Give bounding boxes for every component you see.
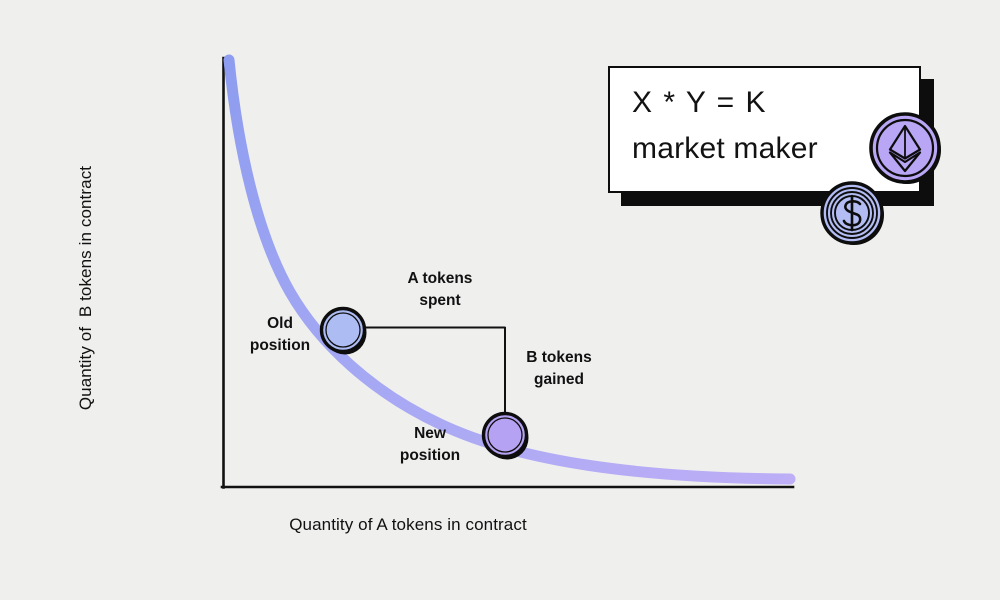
diagram-canvas: Quantity of A tokens in contract Quantit… [0,0,1000,600]
y-axis-label: Quantity of B tokens in contract [76,108,96,468]
label-b-tokens-gained: B tokens gained [503,347,615,391]
label-a-tokens-spent: A tokens spent [385,268,495,312]
dollar-coin-icon [819,180,885,246]
ethereum-coin-icon [868,111,942,185]
x-axis-label: Quantity of A tokens in contract [0,515,816,535]
delta-connector [362,327,506,416]
formula-caption: market maker [632,132,818,166]
label-old-position: Old position [232,313,328,357]
formula-equation: X * Y = K [632,86,767,120]
marker-new-position[interactable] [484,414,529,460]
marker-old-position[interactable] [322,309,367,355]
label-new-position: New position [382,423,478,467]
